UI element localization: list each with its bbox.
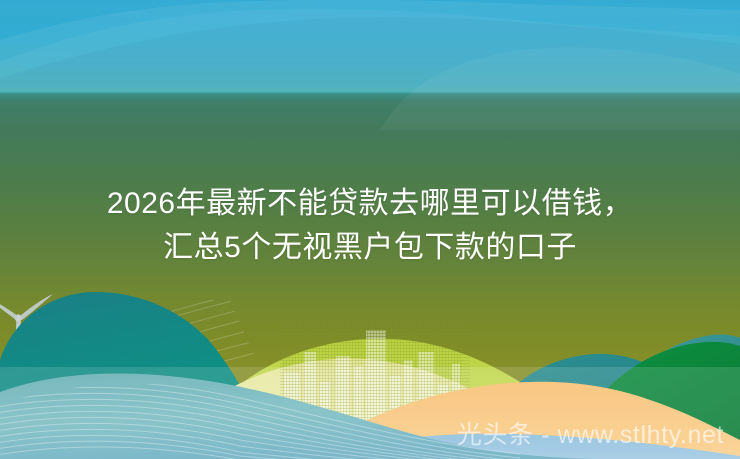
article-banner-image: 2026年最新不能贷款去哪里可以借钱， 汇总5个无视黑户包下款的口子 光头条 -…	[0, 0, 740, 459]
page-title: 2026年最新不能贷款去哪里可以借钱， 汇总5个无视黑户包下款的口子	[0, 182, 740, 270]
site-watermark: 光头条 - www.stlhty.net	[457, 420, 724, 450]
